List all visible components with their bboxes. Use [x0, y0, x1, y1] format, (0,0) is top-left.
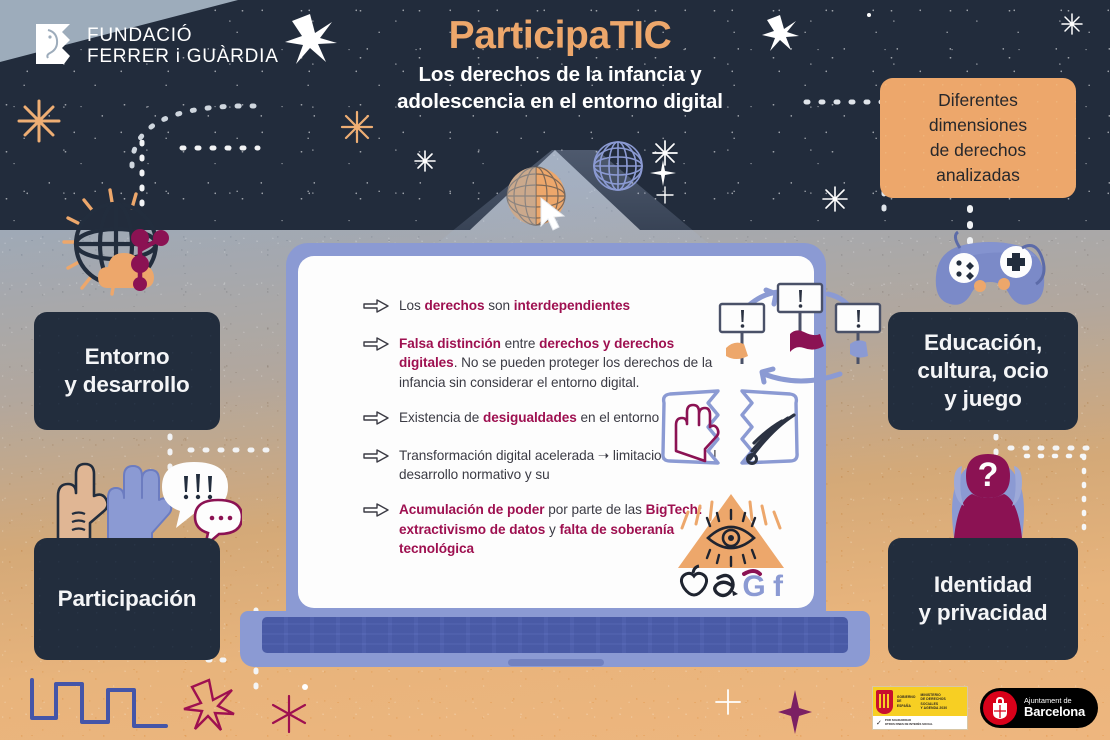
callout-box-identidad-y-privacidad[interactable]: Identidad y privacidad: [888, 538, 1078, 660]
ministerio-line-3: Y AGENDA 2030: [921, 706, 948, 710]
globe-wireframe-icon: [592, 140, 644, 197]
gamepad-icon: [930, 228, 1050, 319]
gobierno-line-2: DE ESPAÑA: [897, 699, 911, 707]
barcelona-line-2: Barcelona: [1024, 705, 1085, 720]
callout-box-participacion[interactable]: Participación: [34, 538, 220, 660]
arrow-right-icon: [363, 296, 391, 318]
cursor-arrow-icon: [538, 196, 568, 237]
callout-box-dimensions[interactable]: Diferentes dimensiones de derechos anali…: [880, 78, 1076, 198]
arrow-right-icon: [363, 500, 391, 558]
check-icon: ✓: [876, 719, 882, 727]
star-icon: [648, 158, 678, 188]
dotted-connector: [128, 100, 258, 175]
logo-line-2: FERRER i GUÀRDIA: [87, 46, 279, 67]
spain-coat-of-arms-icon: [876, 690, 893, 714]
star-icon: [778, 690, 812, 734]
title-block: ParticipaTIC Los derechos de la infancia…: [310, 14, 810, 116]
laptop-keyboard: [262, 617, 848, 653]
page-subtitle: Los derechos de la infancia y adolescenc…: [310, 62, 810, 116]
dotted-connector: [800, 96, 890, 231]
gobierno-subtext: POR SOLIDARIDAD OTROS FINES DE INTERÉS S…: [885, 719, 933, 726]
callout-box-educacion-cultura-ocio-juego[interactable]: Educación, cultura, ocio y juego: [888, 312, 1078, 430]
page-title: ParticipaTIC: [310, 14, 810, 58]
svg-text:f: f: [773, 570, 784, 600]
star-icon: [16, 98, 62, 144]
arrow-right-icon: [363, 446, 391, 485]
gobierno-logo-bottom: ✓ POR SOLIDARIDAD OTROS FINES DE INTERÉS…: [873, 716, 967, 729]
callout-label: Entorno y desarrollo: [64, 343, 189, 399]
laptop-screen: Los derechos son interdependientes Falsa…: [298, 256, 814, 608]
subtitle-line-2: adolescencia en el entorno digital: [397, 90, 723, 113]
protest-signs-cycle-icon: [716, 278, 888, 395]
fundacio-logo-text: FUNDACIÓ FERRER i GUÀRDIA: [87, 25, 279, 68]
callout-label: Diferentes dimensiones de derechos anali…: [929, 88, 1027, 187]
dot-icon: [300, 682, 310, 692]
ministerio-line-2: DE DERECHOS SOCIALES: [921, 697, 946, 705]
infographic-canvas: FUNDACIÓ FERRER i GUÀRDIA ParticipaTIC L…: [0, 0, 1110, 740]
svg-text:?: ?: [978, 456, 999, 494]
gobierno-line-1: GOBIERNO: [897, 695, 916, 699]
star-icon: [656, 186, 674, 204]
gobierno-sub-line-2: OTROS FINES DE INTERÉS SOCIAL: [885, 722, 933, 726]
bullet-item: Falsa distinción entre derechos y derech…: [363, 334, 733, 392]
bullet-text: Existencia de desigualdades en el entorn…: [399, 408, 698, 430]
callout-label: Participación: [58, 585, 197, 613]
torn-connection-icon: [658, 389, 802, 478]
star-icon: [414, 150, 436, 172]
barcelona-logo-text: Ajuntament de Barcelona: [1024, 697, 1085, 720]
gobierno-de-espana-logo: GOBIERNO DE ESPAÑA MINISTERIO DE DERECHO…: [872, 686, 968, 730]
identity-question-figure-icon: ?: [932, 442, 1044, 543]
callout-box-entorno-y-desarrollo[interactable]: Entorno y desarrollo: [34, 312, 220, 430]
bullet-text: Los derechos son interdependientes: [399, 296, 630, 318]
arrow-right-icon: [363, 334, 391, 392]
star-icon: [1060, 12, 1084, 36]
ajuntament-barcelona-logo: Ajuntament de Barcelona: [980, 688, 1098, 728]
subtitle-line-1: Los derechos de la infancia y: [418, 63, 701, 86]
fundacio-logo-mark: [34, 22, 74, 70]
star-icon: [182, 678, 236, 732]
laptop-trackpad: [508, 659, 604, 666]
callout-label: Identidad y privacidad: [919, 571, 1048, 627]
pyramid-eye-bigtech-icon: G f: [666, 492, 796, 605]
network-globe-cloud-icon: [62, 182, 202, 307]
bullet-item: Los derechos son interdependientes: [363, 296, 733, 318]
footer-logos: GOBIERNO DE ESPAÑA MINISTERIO DE DERECHO…: [872, 686, 1098, 730]
gobierno-logo-top: GOBIERNO DE ESPAÑA MINISTERIO DE DERECHO…: [873, 687, 967, 716]
gobierno-logo-text: GOBIERNO DE ESPAÑA: [897, 695, 917, 708]
bullet-text: Falsa distinción entre derechos y derech…: [399, 334, 733, 392]
logo-line-1: FUNDACIÓ: [87, 25, 279, 46]
star-icon: [714, 688, 742, 716]
zigzag-line-icon: [30, 676, 170, 730]
ministerio-logo-text: MINISTERIO DE DERECHOS SOCIALES Y AGENDA…: [921, 693, 965, 711]
callout-label: Educación, cultura, ocio y juego: [917, 329, 1048, 413]
ministerio-line-1: MINISTERIO: [921, 693, 941, 697]
arrow-right-icon: [363, 408, 391, 430]
star-icon: [862, 8, 876, 22]
laptop-illustration: Los derechos son interdependientes Falsa…: [240, 243, 870, 673]
barcelona-crest-icon: [983, 691, 1017, 725]
fundacio-logo: FUNDACIÓ FERRER i GUÀRDIA: [34, 22, 279, 70]
